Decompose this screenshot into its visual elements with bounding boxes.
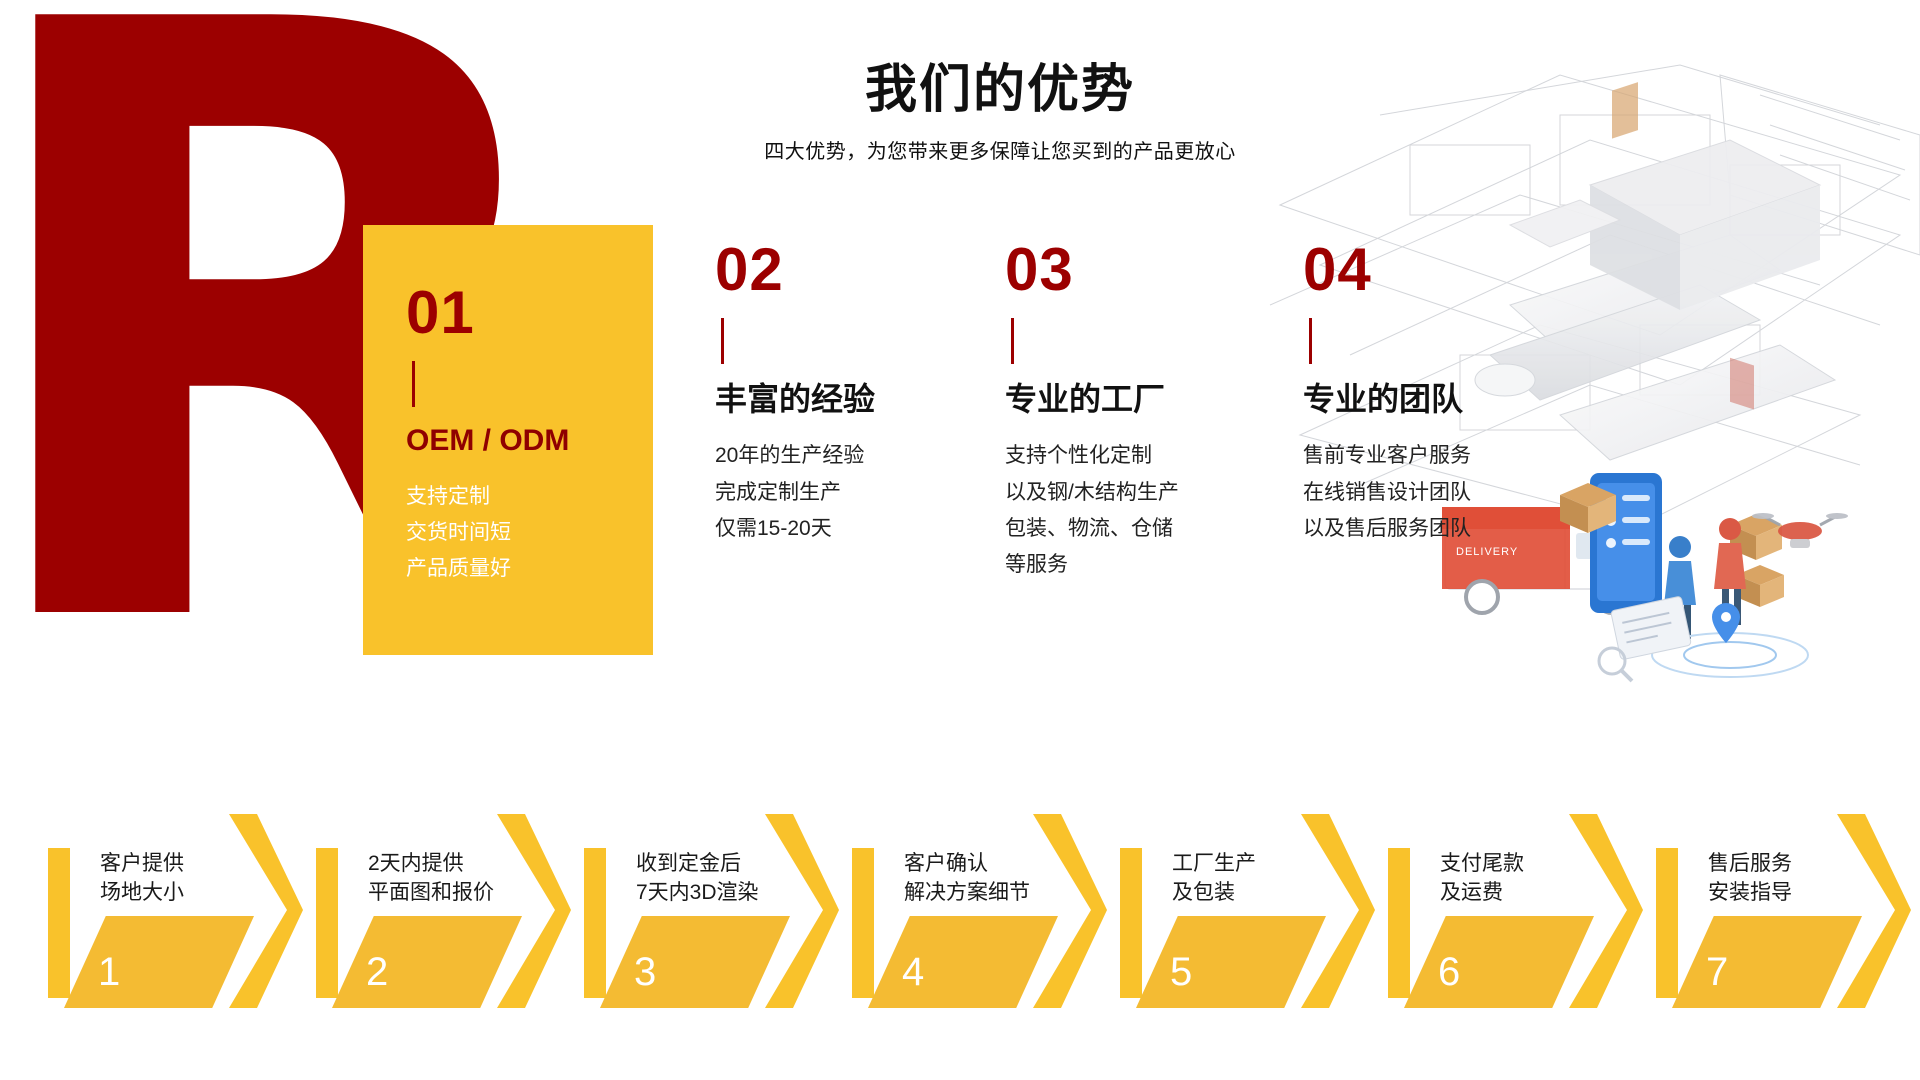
step-bar	[1656, 848, 1678, 998]
step-line-2: 场地大小	[100, 879, 184, 908]
step-number: 4	[902, 952, 924, 992]
step-text: 收到定金后7天内3D渲染	[636, 850, 759, 908]
card-title: 专业的团队	[1303, 380, 1471, 418]
card-divider	[412, 361, 415, 407]
process-step-2[interactable]: 22天内提供平面图和报价	[306, 810, 561, 1020]
step-text: 售后服务安装指导	[1708, 850, 1792, 908]
step-line-1: 支付尾款	[1440, 850, 1524, 879]
step-line-1: 收到定金后	[636, 850, 759, 879]
page-title: 我们的优势	[690, 62, 1310, 119]
process-flow: 1客户提供场地大小22天内提供平面图和报价3收到定金后7天内3D渲染4客户确认解…	[0, 810, 1920, 1020]
card-divider	[721, 318, 724, 364]
chevron-right-icon	[1027, 810, 1113, 1020]
chevron-right-icon	[1831, 810, 1917, 1020]
page-subtitle: 四大优势，为您带来更多保障让您买到的产品更放心	[690, 135, 1310, 164]
card-line: 产品质量好	[406, 551, 653, 587]
step-line-2: 7天内3D渲染	[636, 879, 759, 908]
card-lines: 售前专业客户服务 在线销售设计团队 以及售后服务团队	[1303, 438, 1471, 546]
process-step-7[interactable]: 7售后服务安装指导	[1646, 810, 1901, 1020]
card-line: 交货时间短	[406, 515, 653, 551]
advantage-card-01[interactable]: 01 OEM / ODM 支持定制 交货时间短 产品质量好	[363, 225, 653, 655]
card-line: 在线销售设计团队	[1303, 475, 1471, 511]
card-line: 售前专业客户服务	[1303, 438, 1471, 474]
step-line-1: 2天内提供	[368, 850, 494, 879]
card-line: 仅需15-20天	[715, 511, 875, 547]
card-line: 支持定制	[406, 479, 653, 515]
step-bar	[852, 848, 874, 998]
card-line: 支持个性化定制	[1005, 438, 1179, 474]
card-divider	[1309, 318, 1312, 364]
chevron-right-icon	[759, 810, 845, 1020]
step-line-1: 客户确认	[904, 850, 1030, 879]
step-number: 2	[366, 952, 388, 992]
card-title: 丰富的经验	[715, 380, 875, 418]
step-bar	[1388, 848, 1410, 998]
card-title: 专业的工厂	[1005, 380, 1179, 418]
card-line: 20年的生产经验	[715, 438, 875, 474]
card-number: 03	[1005, 240, 1179, 300]
process-step-4[interactable]: 4客户确认解决方案细节	[842, 810, 1097, 1020]
step-line-1: 客户提供	[100, 850, 184, 879]
card-divider	[1011, 318, 1014, 364]
card-lines: 支持个性化定制 以及钢/木结构生产 包装、物流、仓储 等服务	[1005, 438, 1179, 582]
step-line-2: 解决方案细节	[904, 879, 1030, 908]
step-bar	[1120, 848, 1142, 998]
chevron-right-icon	[223, 810, 309, 1020]
card-number: 04	[1303, 240, 1471, 300]
advantage-card-03[interactable]: 03 专业的工厂 支持个性化定制 以及钢/木结构生产 包装、物流、仓储 等服务	[1005, 240, 1179, 583]
card-line: 等服务	[1005, 547, 1179, 583]
step-number: 5	[1170, 952, 1192, 992]
step-line-2: 及包装	[1172, 879, 1256, 908]
chevron-right-icon	[1295, 810, 1381, 1020]
process-step-1[interactable]: 1客户提供场地大小	[38, 810, 293, 1020]
advantage-card-02[interactable]: 02 丰富的经验 20年的生产经验 完成定制生产 仅需15-20天	[715, 240, 875, 547]
step-bar	[584, 848, 606, 998]
step-line-2: 安装指导	[1708, 879, 1792, 908]
card-number: 02	[715, 240, 875, 300]
chevron-right-icon	[1563, 810, 1649, 1020]
step-line-1: 工厂生产	[1172, 850, 1256, 879]
step-number: 3	[634, 952, 656, 992]
step-text: 2天内提供平面图和报价	[368, 850, 494, 908]
card-lines: 支持定制 交货时间短 产品质量好	[406, 479, 653, 587]
card-line: 以及钢/木结构生产	[1005, 475, 1179, 511]
process-step-6[interactable]: 6支付尾款及运费	[1378, 810, 1633, 1020]
advantage-cards: 01 OEM / ODM 支持定制 交货时间短 产品质量好 02 丰富的经验 2…	[0, 240, 1920, 670]
step-bar	[316, 848, 338, 998]
step-line-2: 及运费	[1440, 879, 1524, 908]
advantage-card-04[interactable]: 04 专业的团队 售前专业客户服务 在线销售设计团队 以及售后服务团队	[1303, 240, 1471, 547]
step-number: 7	[1706, 952, 1728, 992]
step-text: 支付尾款及运费	[1440, 850, 1524, 908]
card-line: 以及售后服务团队	[1303, 511, 1471, 547]
process-step-5[interactable]: 5工厂生产及包装	[1110, 810, 1365, 1020]
step-text: 客户确认解决方案细节	[904, 850, 1030, 908]
card-number: 01	[406, 283, 653, 343]
step-number: 1	[98, 952, 120, 992]
step-number: 6	[1438, 952, 1460, 992]
step-bar	[48, 848, 70, 998]
step-line-1: 售后服务	[1708, 850, 1792, 879]
card-title: OEM / ODM	[406, 423, 653, 459]
step-text: 工厂生产及包装	[1172, 850, 1256, 908]
step-line-2: 平面图和报价	[368, 879, 494, 908]
card-lines: 20年的生产经验 完成定制生产 仅需15-20天	[715, 438, 875, 546]
header: 我们的优势 四大优势，为您带来更多保障让您买到的产品更放心	[690, 62, 1310, 164]
chevron-right-icon	[491, 810, 577, 1020]
card-line: 完成定制生产	[715, 475, 875, 511]
process-step-3[interactable]: 3收到定金后7天内3D渲染	[574, 810, 829, 1020]
step-text: 客户提供场地大小	[100, 850, 184, 908]
card-line: 包装、物流、仓储	[1005, 511, 1179, 547]
